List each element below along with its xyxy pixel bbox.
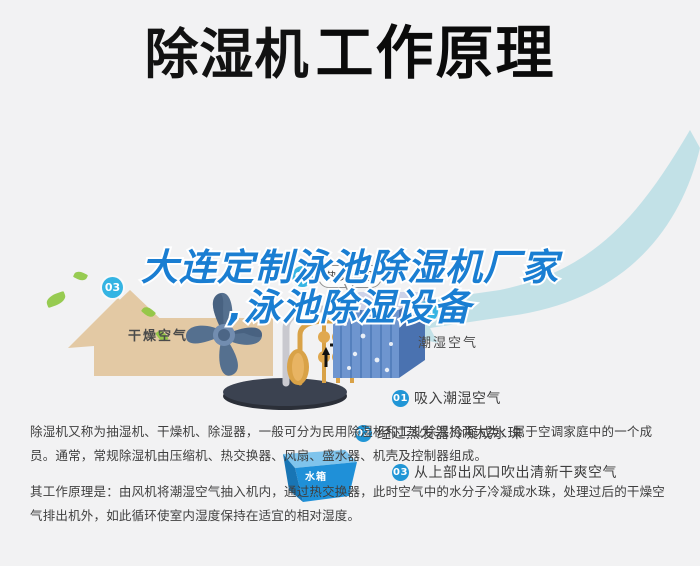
step-text-01: 吸入潮湿空气 xyxy=(414,391,501,407)
fan-icon xyxy=(178,290,270,380)
page-title: 除湿机工作原理 xyxy=(0,24,700,84)
description-paragraph-2: 其工作原理是：由风机将潮湿空气抽入机内，通过热交换器，此时空气中的水分子冷凝成水… xyxy=(30,480,675,528)
infographic-page: 除湿机工作原理 03 干燥空气 xyxy=(0,0,700,566)
humid-air-label: 潮湿空气 xyxy=(418,332,478,351)
description-paragraph-1: 除湿机又称为抽湿机、干燥机、除湿器，一般可分为民用除湿机和工业除湿机两大类，属于… xyxy=(30,420,675,468)
bubble-pointer-icon xyxy=(344,284,354,295)
page-title-part2: 工作原理 xyxy=(315,19,555,87)
description-block: 除湿机又称为抽湿机、干燥机、除湿器，一般可分为民用除湿机和工业除湿机两大类，属于… xyxy=(30,420,675,540)
heat-exchanger-icon xyxy=(333,288,425,380)
step-badge-01: 01 xyxy=(392,390,409,407)
step-line-01: 01吸入潮湿空气 xyxy=(392,388,501,408)
page-title-part1: 除湿机 xyxy=(144,23,309,86)
badge-03-dry-air: 03 xyxy=(102,277,123,298)
badge-02-heat-exchanger: 02 xyxy=(292,266,313,287)
badge-01-humid-air: 01 xyxy=(417,301,438,322)
dehumidifier-diagram: 03 干燥空气 xyxy=(0,120,700,395)
